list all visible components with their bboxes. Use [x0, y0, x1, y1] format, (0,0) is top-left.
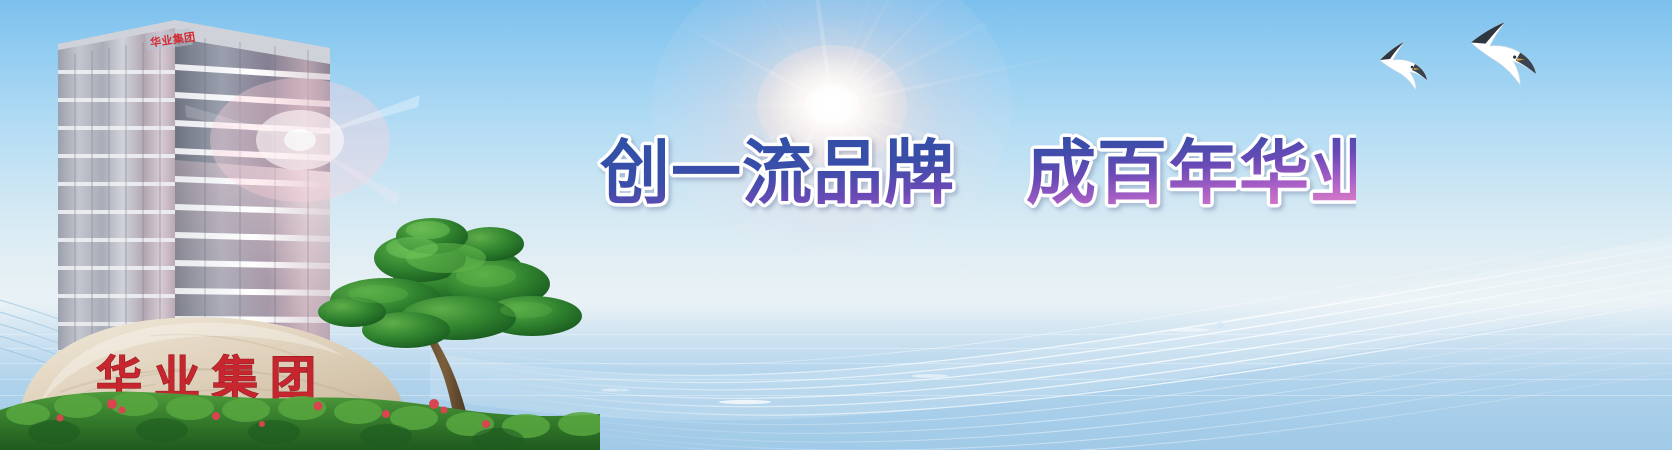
- slogan-svg: 创一流品牌 成百年华业 创一流品牌 成百年华业: [596, 127, 1356, 219]
- sun-ray: [706, 0, 833, 105]
- sun-ray: [831, 0, 1037, 107]
- sun-ray: [794, 0, 834, 105]
- seagull-icon: [1380, 42, 1427, 90]
- sun-flare-core: [804, 84, 860, 126]
- bonsai-canopy: [318, 218, 582, 348]
- seagull-icon: [1471, 22, 1536, 85]
- sun-ray: [831, 0, 884, 105]
- left-scene: 华业集团: [0, 0, 600, 450]
- seagull-group: [1370, 8, 1570, 118]
- sun-ray: [831, 0, 857, 105]
- sun-ray: [832, 48, 1095, 106]
- sun-ray: [832, 104, 987, 116]
- slogan-text: 创一流品牌 成百年华业: [599, 132, 1356, 214]
- hero-banner: 华业集团: [0, 0, 1672, 450]
- flowering-hedge: [0, 392, 600, 450]
- sun-ray: [831, 0, 972, 106]
- sun-ray: [665, 16, 832, 107]
- slogan: 创一流品牌 成百年华业 创一流品牌 成百年华业: [596, 127, 1356, 219]
- sun-ray: [681, 103, 832, 107]
- sun-ray: [830, 0, 907, 106]
